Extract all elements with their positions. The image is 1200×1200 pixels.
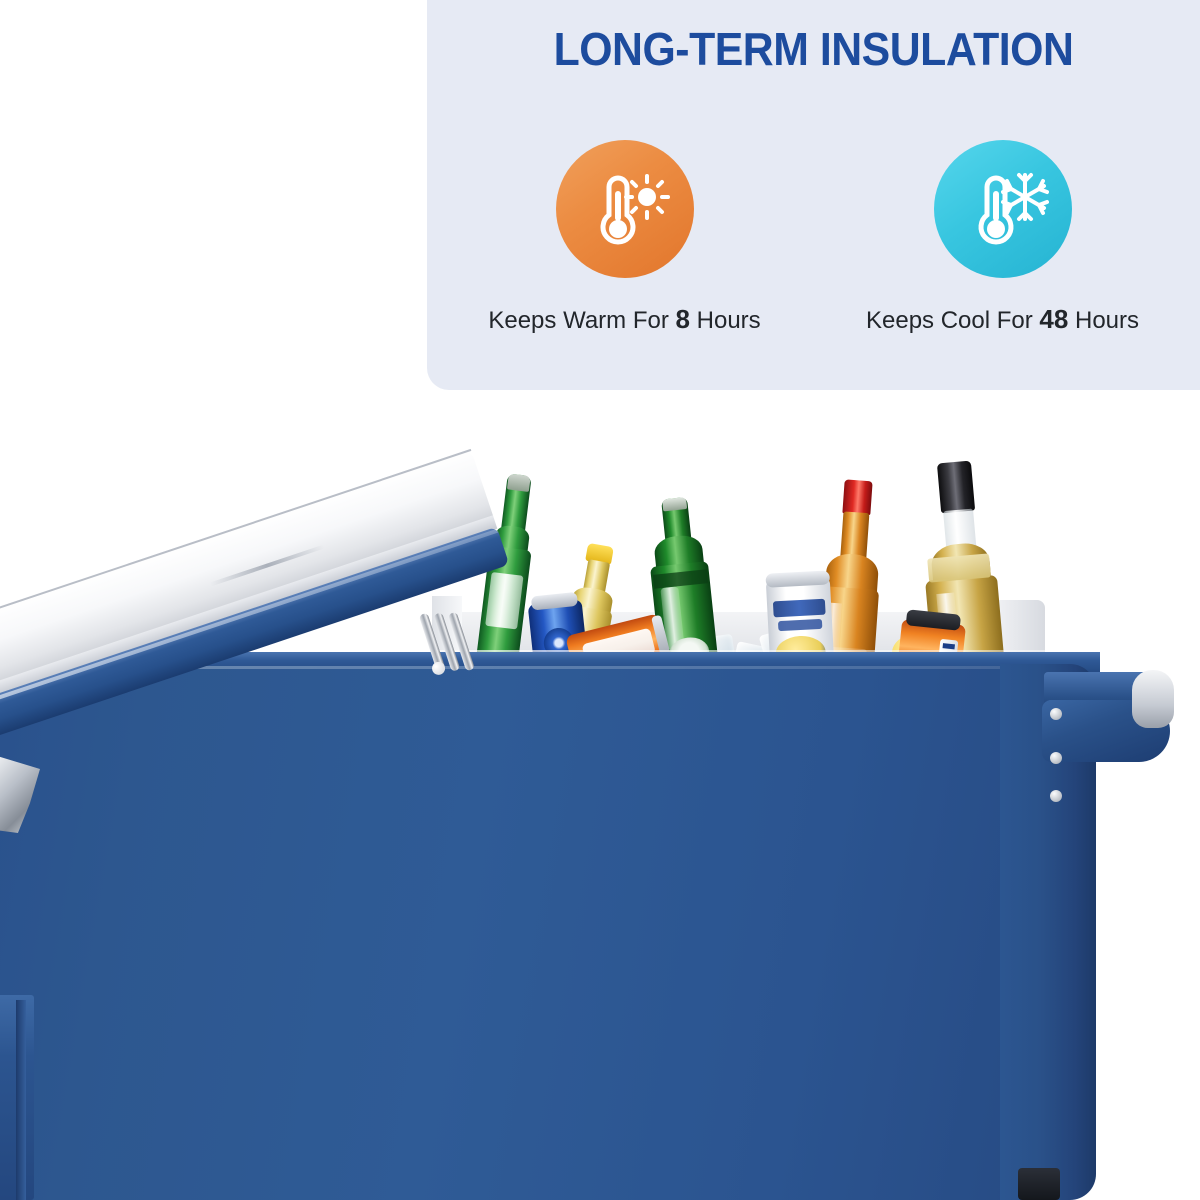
caption-value: 8 [676,304,690,334]
handle-bolt [1050,708,1062,720]
caption-prefix: Keeps Warm For [488,307,675,334]
feature-caption: Keeps Warm For 8 Hours [488,304,760,335]
product-marketing-image: LONG-TERM INSULATION [0,0,1200,1200]
caption-suffix: Hours [1068,307,1139,334]
insulation-info-panel: LONG-TERM INSULATION [427,0,1200,390]
cart-leg [1018,1168,1060,1200]
thermometer-snowflake-icon [934,140,1072,278]
caption-prefix: Keeps Cool For [866,307,1039,334]
page-title: LONG-TERM INSULATION [454,22,1173,76]
feature-caption: Keeps Cool For 48 Hours [866,304,1139,335]
caption-suffix: Hours [690,307,761,334]
handle-bolt [1050,790,1062,802]
handle-bolt [1050,752,1062,764]
feature-keeps-warm: Keeps Warm For 8 Hours [480,140,770,335]
thermometer-sun-icon [556,140,694,278]
feature-list: Keeps Warm For 8 Hours [427,140,1200,335]
feature-keeps-cool: Keeps Cool For 48 Hours [858,140,1148,335]
left-handle-edge [16,1000,26,1200]
side-handle-cap [1132,670,1174,728]
caption-value: 48 [1039,304,1068,334]
